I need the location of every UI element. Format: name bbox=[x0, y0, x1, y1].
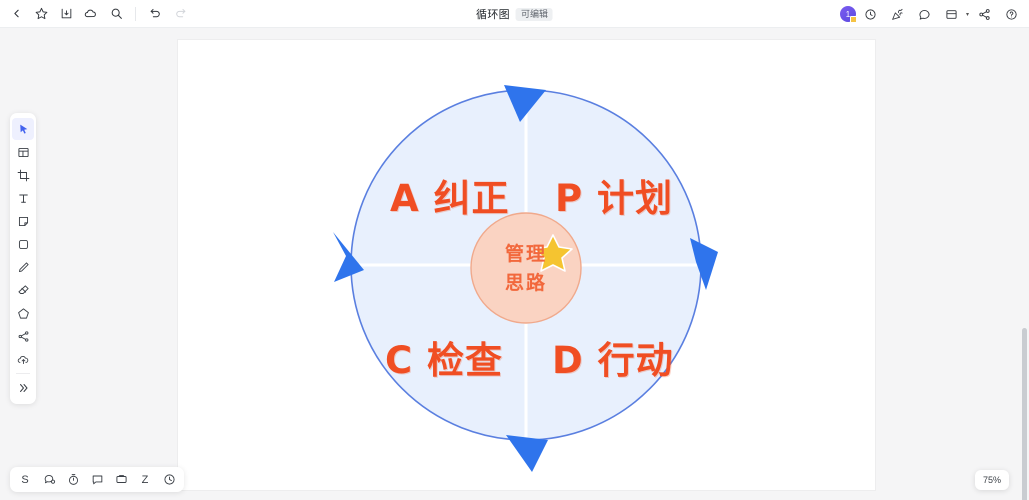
center-label-line2: 思路 bbox=[466, 269, 586, 298]
save-icon[interactable] bbox=[54, 3, 78, 25]
search-icon[interactable] bbox=[104, 3, 128, 25]
quadrant-label-p[interactable]: P 计划 bbox=[555, 168, 673, 222]
canvas-area[interactable]: A 纠正 P 计划 C 检查 D 行动 管理 思路 bbox=[0, 28, 1029, 500]
frame-tool[interactable] bbox=[12, 141, 34, 163]
top-toolbar: 循环图 可编辑 1 ▾ bbox=[0, 0, 1029, 28]
crop-tool[interactable] bbox=[12, 164, 34, 186]
bottom-toolbar: S Z bbox=[10, 467, 184, 492]
timer-icon[interactable] bbox=[62, 470, 84, 490]
arrow-bottom bbox=[506, 435, 548, 472]
history-clock-icon[interactable] bbox=[859, 3, 883, 25]
tool-rail bbox=[10, 113, 36, 404]
ai-assist-icon[interactable] bbox=[158, 470, 180, 490]
zen-icon[interactable]: Z bbox=[134, 470, 156, 490]
text-tool[interactable] bbox=[12, 187, 34, 209]
document-page[interactable]: A 纠正 P 计划 C 检查 D 行动 管理 思路 bbox=[178, 40, 875, 490]
select-tool[interactable] bbox=[12, 118, 34, 140]
quadrant-label-d[interactable]: D 行动 bbox=[552, 330, 674, 384]
celebrate-icon[interactable] bbox=[886, 3, 910, 25]
status-badge: 可编辑 bbox=[516, 8, 553, 21]
connector-tool[interactable] bbox=[12, 325, 34, 347]
page-title[interactable]: 循环图 bbox=[476, 6, 510, 22]
more-tools[interactable] bbox=[12, 377, 34, 399]
cloud-icon[interactable] bbox=[79, 3, 103, 25]
polygon-tool[interactable] bbox=[12, 302, 34, 324]
rail-divider bbox=[16, 373, 30, 374]
help-icon[interactable] bbox=[999, 3, 1023, 25]
chat-bubbles-icon[interactable] bbox=[38, 470, 60, 490]
present-icon[interactable] bbox=[940, 3, 964, 25]
cycle-diagram[interactable]: A 纠正 P 计划 C 检查 D 行动 管理 思路 bbox=[178, 40, 875, 490]
upload-tool[interactable] bbox=[12, 348, 34, 370]
chevron-down-icon[interactable]: ▾ bbox=[966, 11, 969, 18]
redo-icon[interactable] bbox=[168, 3, 192, 25]
quadrant-label-a[interactable]: A 纠正 bbox=[390, 168, 510, 222]
vertical-scrollbar[interactable] bbox=[1022, 328, 1027, 500]
pen-tool[interactable] bbox=[12, 256, 34, 278]
eraser-tool[interactable] bbox=[12, 279, 34, 301]
share-icon[interactable] bbox=[972, 3, 996, 25]
media-icon[interactable] bbox=[110, 470, 132, 490]
document-title-group: 循环图 可编辑 bbox=[476, 0, 553, 28]
star-icon[interactable] bbox=[29, 3, 53, 25]
sticky-tool[interactable] bbox=[12, 210, 34, 232]
top-toolbar-left-group bbox=[0, 3, 192, 25]
avatar[interactable]: 1 bbox=[840, 6, 856, 22]
center-label-line1: 管理 bbox=[466, 240, 586, 269]
comment-box-icon[interactable] bbox=[86, 470, 108, 490]
undo-icon[interactable] bbox=[143, 3, 167, 25]
sogou-input-icon[interactable]: S bbox=[14, 470, 36, 490]
back-icon[interactable] bbox=[4, 3, 28, 25]
app-root: 循环图 可编辑 1 ▾ bbox=[0, 0, 1029, 500]
zoom-level-indicator[interactable]: 75% bbox=[975, 470, 1009, 490]
shape-tool[interactable] bbox=[12, 233, 34, 255]
center-label[interactable]: 管理 思路 bbox=[466, 240, 586, 298]
quadrant-label-c[interactable]: C 检查 bbox=[385, 330, 503, 384]
top-toolbar-right-group: 1 ▾ bbox=[840, 0, 1023, 28]
comment-icon[interactable] bbox=[913, 3, 937, 25]
toolbar-divider bbox=[135, 7, 136, 21]
